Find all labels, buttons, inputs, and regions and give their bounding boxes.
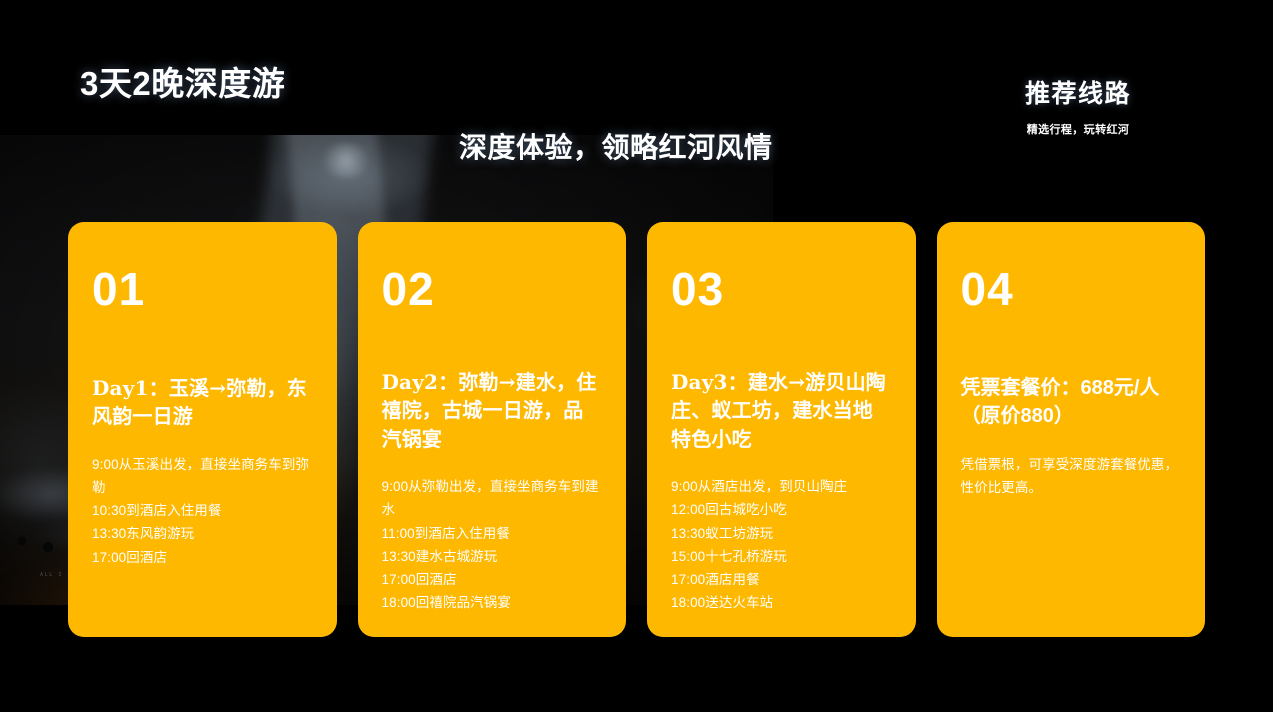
itinerary-card-price[interactable]: 04 凭票套餐价：688元/人（原价880） 凭借票根，可享受深度游套餐优惠，性…	[937, 222, 1206, 637]
card-number: 04	[961, 266, 1182, 312]
list-item: 18:00回禧院品汽锅宴	[382, 591, 603, 614]
recommended-route-title: 推荐线路	[968, 74, 1188, 110]
recommended-route-subtitle: 精选行程，玩转红河	[968, 121, 1188, 137]
card-note: 凭借票根，可享受深度游套餐优惠，性价比更高。	[961, 453, 1182, 499]
itinerary-card-day1[interactable]: 01 Day1：玉溪→弥勒，东风韵一日游 9:00从玉溪出发，直接坐商务车到弥勒…	[68, 222, 337, 637]
list-item: 15:00十七孔桥游玩	[671, 545, 892, 568]
card-schedule-list: 9:00从酒店出发，到贝山陶庄 12:00回古城吃小吃 13:30蚁工坊游玩 1…	[671, 475, 892, 614]
card-number: 01	[92, 266, 313, 312]
card-heading: Day2：弥勒→建水，住禧院，古城一日游，品汽锅宴	[382, 368, 603, 453]
card-heading: Day3：建水→游贝山陶庄、蚁工坊，建水当地特色小吃	[671, 368, 892, 453]
list-item: 10:30到酒店入住用餐	[92, 499, 313, 522]
itinerary-card-list: 01 Day1：玉溪→弥勒，东风韵一日游 9:00从玉溪出发，直接坐商务车到弥勒…	[68, 222, 1205, 637]
list-item: 9:00从弥勒出发，直接坐商务车到建水	[382, 475, 603, 521]
page-title: 3天2晚深度游	[80, 57, 285, 105]
card-heading: 凭票套餐价：688元/人（原价880）	[961, 374, 1182, 431]
itinerary-card-day3[interactable]: 03 Day3：建水→游贝山陶庄、蚁工坊，建水当地特色小吃 9:00从酒店出发，…	[647, 222, 916, 637]
list-item: 9:00从酒店出发，到贝山陶庄	[671, 475, 892, 498]
card-number: 02	[382, 266, 603, 312]
card-number: 03	[671, 266, 892, 312]
list-item: 13:30东风韵游玩	[92, 522, 313, 545]
card-heading: Day1：玉溪→弥勒，东风韵一日游	[92, 374, 313, 431]
list-item: 13:30蚁工坊游玩	[671, 522, 892, 545]
list-item: 17:00回酒店	[382, 568, 603, 591]
recommended-route-block: 推荐线路 精选行程，玩转红河	[968, 74, 1188, 137]
card-schedule-list: 9:00从玉溪出发，直接坐商务车到弥勒 10:30到酒店入住用餐 13:30东风…	[92, 453, 313, 569]
list-item: 13:30建水古城游玩	[382, 545, 603, 568]
slide-canvas: ALL I AM 3天2晚深度游 深度体验，领略红河风情 推荐线路 精选行程，玩…	[0, 0, 1273, 712]
list-item: 9:00从玉溪出发，直接坐商务车到弥勒	[92, 453, 313, 499]
list-item: 18:00送达火车站	[671, 591, 892, 614]
page-subtitle: 深度体验，领略红河风情	[459, 126, 773, 166]
list-item: 17:00回酒店	[92, 546, 313, 569]
list-item: 11:00到酒店入住用餐	[382, 522, 603, 545]
list-item: 17:00酒店用餐	[671, 568, 892, 591]
itinerary-card-day2[interactable]: 02 Day2：弥勒→建水，住禧院，古城一日游，品汽锅宴 9:00从弥勒出发，直…	[358, 222, 627, 637]
card-schedule-list: 9:00从弥勒出发，直接坐商务车到建水 11:00到酒店入住用餐 13:30建水…	[382, 475, 603, 614]
list-item: 12:00回古城吃小吃	[671, 498, 892, 521]
